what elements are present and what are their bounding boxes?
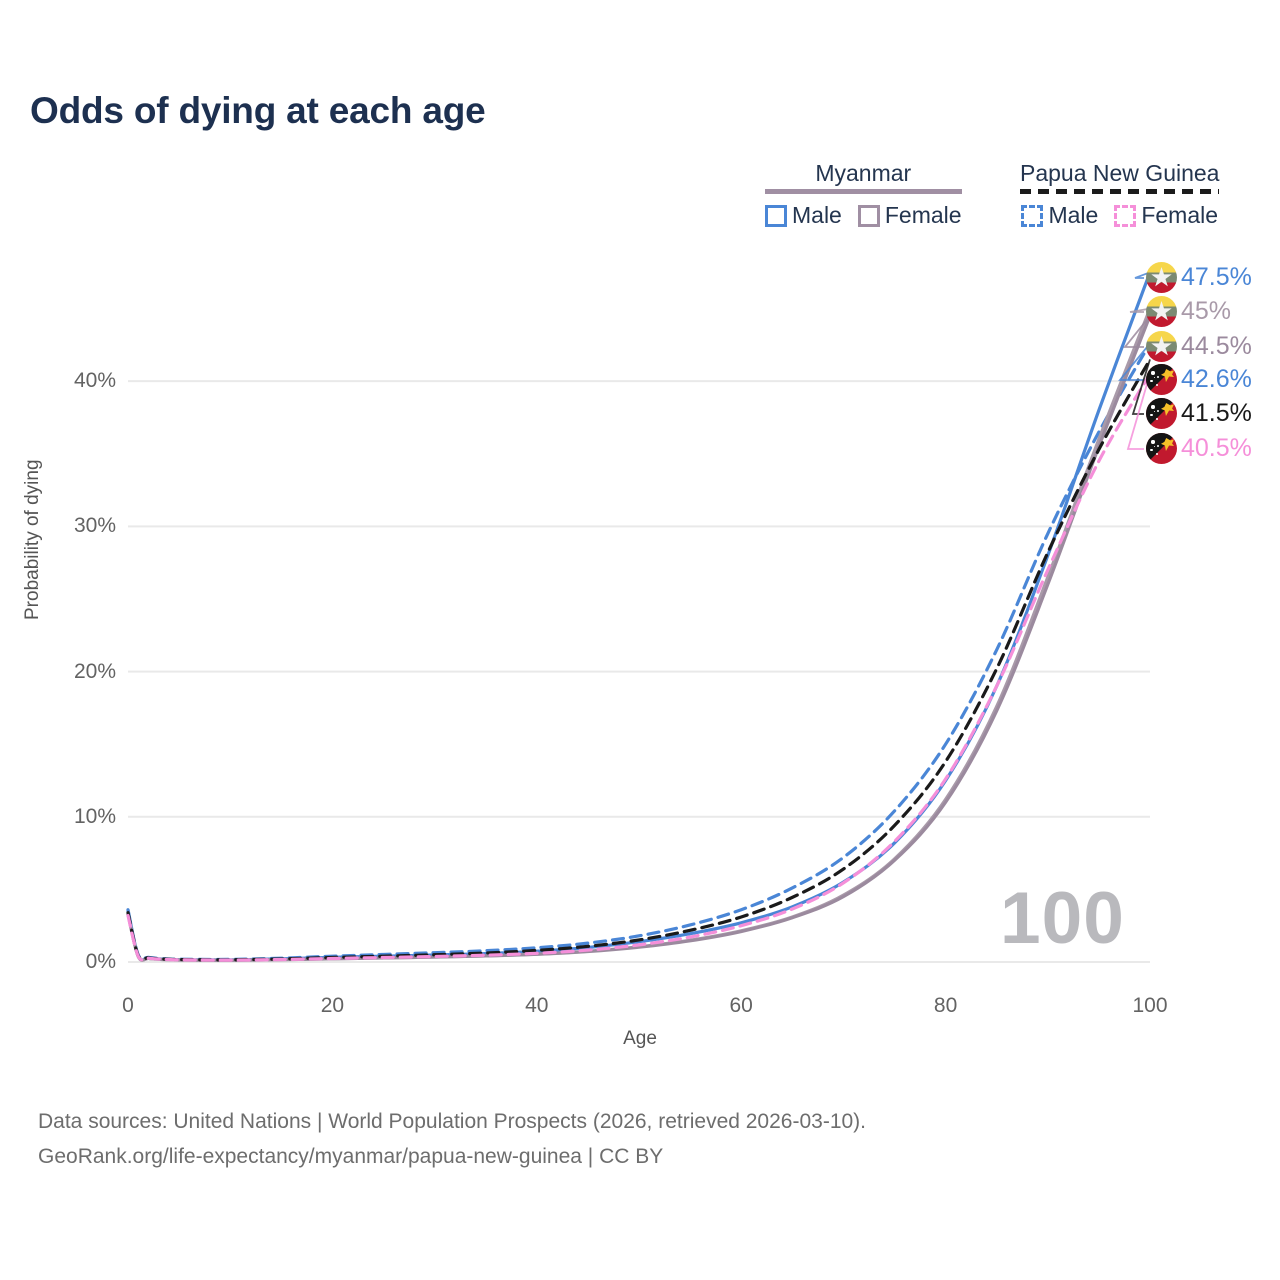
series-line <box>128 309 1150 961</box>
y-tick-label: 30% <box>74 514 130 538</box>
end-label-value: 44.5% <box>1181 332 1252 361</box>
legend-item-myanmar-male[interactable]: Male <box>765 202 842 229</box>
legend-item-png-male[interactable]: Male <box>1021 202 1098 229</box>
legend-item-png-female[interactable]: Female <box>1114 202 1218 229</box>
series-line <box>128 343 1150 959</box>
series-line <box>128 374 1150 960</box>
papua-new-guinea-flag-icon <box>1146 364 1177 395</box>
myanmar-flag-icon <box>1146 331 1177 362</box>
x-tick-label: 80 <box>934 994 957 1018</box>
y-tick-label: 0% <box>86 950 130 974</box>
y-tick-label: 40% <box>74 369 130 393</box>
x-tick-label: 20 <box>321 994 344 1018</box>
footer-data-sources: Data sources: United Nations | World Pop… <box>38 1105 866 1140</box>
footer: Data sources: United Nations | World Pop… <box>38 1105 866 1174</box>
legend-label-png-male: Male <box>1048 202 1098 229</box>
myanmar-star-icon <box>1151 336 1172 357</box>
footer-attribution: GeoRank.org/life-expectancy/myanmar/papu… <box>38 1140 866 1175</box>
legend-swatch-dashed-blue-icon <box>1021 205 1043 227</box>
legend-item-myanmar-female[interactable]: Female <box>858 202 962 229</box>
x-tick-label: 60 <box>730 994 753 1018</box>
myanmar-star-icon <box>1151 301 1172 322</box>
x-tick-label: 100 <box>1132 994 1167 1018</box>
papua-new-guinea-flag-icon <box>1146 433 1177 464</box>
legend-group-papua-new-guinea: Papua New Guinea Male Female <box>1020 160 1219 229</box>
y-tick-label: 20% <box>74 660 130 684</box>
page-title: Odds of dying at each age <box>30 90 486 132</box>
end-label-value: 47.5% <box>1181 263 1252 292</box>
legend-group-title-myanmar: Myanmar <box>765 160 962 187</box>
end-label-value: 40.5% <box>1181 434 1252 463</box>
end-label: 47.5% <box>1146 262 1252 293</box>
myanmar-star-icon <box>1151 267 1172 288</box>
y-axis-label: Probability of dying <box>22 459 44 620</box>
end-label: 40.5% <box>1146 433 1252 464</box>
chart-page: Odds of dying at each age Myanmar Male F… <box>0 0 1280 1280</box>
pg-star-icon <box>1156 418 1159 421</box>
pg-star-icon <box>1151 371 1154 374</box>
end-label: 41.5% <box>1146 398 1252 429</box>
x-axis-label: Age <box>623 1028 657 1050</box>
legend-group-myanmar: Myanmar Male Female <box>765 160 962 229</box>
papua-new-guinea-flag-icon <box>1146 398 1177 429</box>
legend-swatch-solid-mauve-icon <box>858 205 880 227</box>
end-label: 45% <box>1146 296 1231 327</box>
legend-group-title-papua-new-guinea: Papua New Guinea <box>1020 160 1219 187</box>
end-label-value: 45% <box>1181 297 1231 326</box>
y-tick-label: 10% <box>74 805 130 829</box>
legend-rule-dashed <box>1020 189 1219 194</box>
legend-swatch-solid-blue-icon <box>765 205 787 227</box>
end-label-value: 42.6% <box>1181 365 1252 394</box>
series-line <box>128 272 1150 960</box>
x-tick-label: 40 <box>525 994 548 1018</box>
legend-label-myanmar-female: Female <box>885 202 962 229</box>
myanmar-flag-icon <box>1146 296 1177 327</box>
x-tick-label: 0 <box>122 994 134 1018</box>
legend-label-png-female: Female <box>1141 202 1218 229</box>
pg-star-icon <box>1156 453 1159 456</box>
end-label: 42.6% <box>1146 364 1252 395</box>
pg-star-icon <box>1156 384 1159 387</box>
series-curves <box>128 272 1150 960</box>
pg-star-icon <box>1151 405 1154 408</box>
age-watermark: 100 <box>1000 877 1125 960</box>
legend-swatch-dashed-pink-icon <box>1114 205 1136 227</box>
legend-label-myanmar-male: Male <box>792 202 842 229</box>
legend-rule-solid <box>765 189 962 194</box>
gridlines <box>128 381 1150 962</box>
end-label-value: 41.5% <box>1181 399 1252 428</box>
series-line <box>128 359 1150 959</box>
series-line <box>128 316 1150 960</box>
end-label: 44.5% <box>1146 331 1252 362</box>
chart-legend: Myanmar Male Female Papua New Guinea Mal <box>755 160 1255 250</box>
myanmar-flag-icon <box>1146 262 1177 293</box>
pg-star-icon <box>1151 440 1154 443</box>
